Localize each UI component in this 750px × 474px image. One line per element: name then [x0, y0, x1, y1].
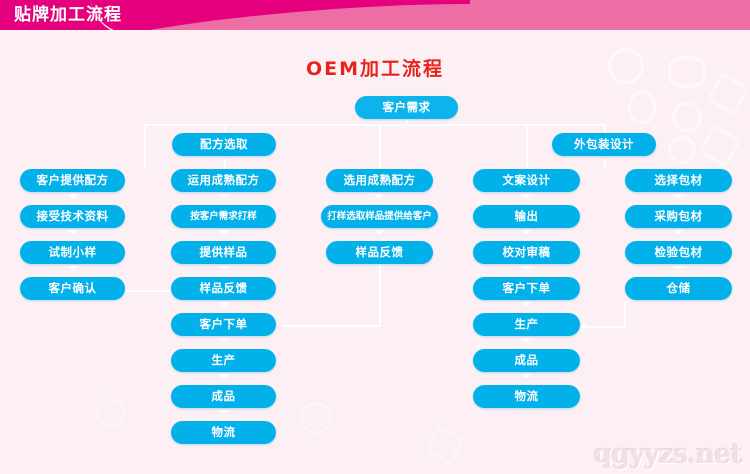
connector-drop-col3: [379, 124, 381, 168]
decor-hex-icon-2: [698, 124, 742, 168]
node-c4-r5[interactable]: 生产: [473, 313, 580, 336]
arrow-icon: [521, 338, 531, 343]
arrow-icon: [521, 302, 531, 307]
node-c1-r4[interactable]: 客户确认: [20, 277, 125, 300]
node-c5-r4[interactable]: 仓储: [625, 277, 732, 300]
page-header: 贴牌加工流程: [0, 0, 750, 30]
node-c2-r5[interactable]: 客户下单: [171, 313, 276, 336]
node-c5-r1[interactable]: 选择包材: [625, 169, 732, 192]
arrow-icon: [374, 230, 384, 235]
page-title: OEM加工流程: [0, 54, 750, 81]
node-c4-r1[interactable]: 文案设计: [473, 169, 580, 192]
node-branch-formula[interactable]: 配方选取: [172, 133, 276, 156]
connector-branch2-stem: [604, 159, 606, 169]
decor-circle-icon-4: [96, 398, 126, 428]
connector-top-spine: [144, 124, 606, 126]
node-c1-r3[interactable]: 试制小样: [20, 241, 125, 264]
node-c4-r7[interactable]: 物流: [473, 385, 580, 408]
node-c1-r2[interactable]: 接受技术资料: [20, 205, 125, 228]
arrow-icon: [219, 302, 229, 307]
arrow-icon: [219, 374, 229, 379]
connector-col5-to-col4: [581, 326, 625, 328]
connector-root-stem: [406, 118, 408, 126]
decor-shield-icon: [628, 90, 656, 124]
node-c5-r2[interactable]: 采购包材: [625, 205, 732, 228]
node-c2-r8[interactable]: 物流: [171, 421, 276, 444]
node-c4-r3[interactable]: 校对审稿: [473, 241, 580, 264]
node-c4-r4[interactable]: 客户下单: [473, 277, 580, 300]
decor-gear-icon: [672, 102, 702, 132]
arrow-icon: [68, 194, 78, 199]
arrow-icon: [521, 374, 531, 379]
header-title: 贴牌加工流程: [14, 3, 122, 27]
node-c2-r6[interactable]: 生产: [171, 349, 276, 372]
arrow-icon: [673, 230, 683, 235]
arrow-icon: [68, 230, 78, 235]
node-c4-r2[interactable]: 输出: [473, 205, 580, 228]
connector-drop-col1: [144, 124, 146, 168]
connector-col5-down: [624, 301, 626, 327]
node-c1-r1[interactable]: 客户提供配方: [20, 169, 125, 192]
node-c4-r6[interactable]: 成品: [473, 349, 580, 372]
node-c2-r7[interactable]: 成品: [171, 385, 276, 408]
node-root[interactable]: 客户需求: [355, 96, 458, 119]
arrow-icon: [68, 266, 78, 271]
node-c2-r3[interactable]: 提供样品: [171, 241, 276, 264]
node-c2-r4[interactable]: 样品反馈: [171, 277, 276, 300]
connector-branch1-stem: [224, 159, 226, 169]
node-c2-r2[interactable]: 按客户需求打样: [171, 205, 276, 228]
node-branch-packaging[interactable]: 外包装设计: [552, 133, 656, 156]
node-c5-r3[interactable]: 检验包材: [625, 241, 732, 264]
arrow-icon: [673, 266, 683, 271]
node-c3-r3[interactable]: 样品反馈: [326, 241, 433, 264]
arrow-icon: [521, 230, 531, 235]
node-c3-r2[interactable]: 打样选取样品提供给客户: [321, 205, 438, 228]
decor-circle-icon-3: [300, 402, 332, 434]
arrow-icon: [219, 266, 229, 271]
header-curve-divider: [90, 0, 510, 30]
arrow-icon: [219, 338, 229, 343]
arrow-icon: [521, 194, 531, 199]
node-c3-r1[interactable]: 选用成熟配方: [326, 169, 433, 192]
decor-circle-icon-2: [668, 136, 696, 164]
site-watermark: qgyyzs.net: [594, 439, 742, 470]
connector-drop-col4: [526, 124, 528, 168]
connector-col3-down: [379, 264, 381, 326]
arrow-icon: [673, 194, 683, 199]
arrow-icon: [583, 321, 588, 331]
arrow-icon: [521, 266, 531, 271]
arrow-icon: [219, 230, 229, 235]
flowchart-page: 贴牌加工流程 OEM加工流程 客户需求 配方选取 外包装设计 客户提供配方: [0, 0, 750, 474]
decor-hex-icon-3: [425, 425, 466, 466]
node-c2-r1[interactable]: 运用成熟配方: [171, 169, 276, 192]
arrow-icon: [219, 194, 229, 199]
arrow-icon: [219, 410, 229, 415]
arrow-icon: [374, 194, 384, 199]
connector-col3-to-col2: [281, 325, 381, 327]
connector-col1-to-col2: [125, 290, 171, 292]
